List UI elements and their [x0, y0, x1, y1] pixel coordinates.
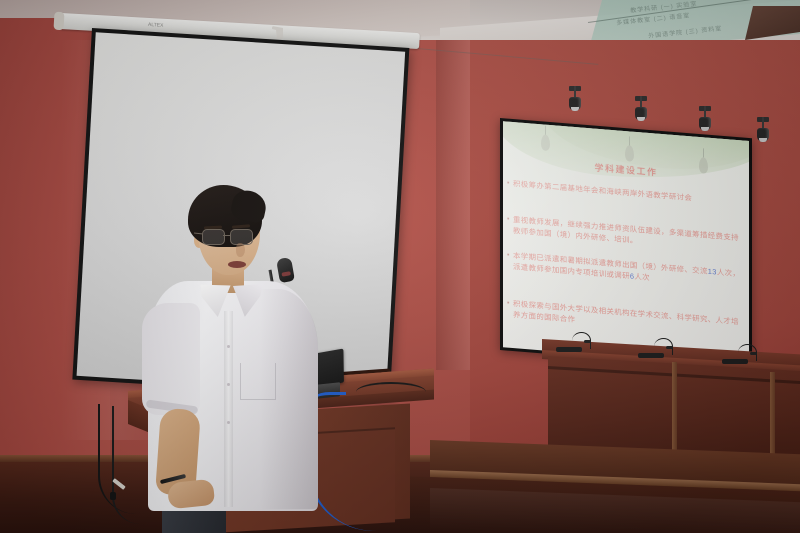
lecture-hall-photo: 教学科研 (一) 实验室 多媒体教室 (二) 语音室 外国语学院 (三) 资料室… [0, 0, 800, 533]
presentation-slide: 学科建设工作 ▪ 积极筹办第二届基地年会和海峡两岸外语教学研讨会 ▪ 重视教师发… [503, 121, 749, 367]
conference-table-leg-1 [672, 362, 677, 454]
bullet-marker-icon: ▪ [507, 179, 510, 190]
slide-lantern-1 [541, 134, 550, 151]
wall-corner [436, 40, 470, 370]
shirt-button-2 [227, 383, 230, 386]
ceiling-panel-line-3: 外国语学院 (三) 资料室 [648, 23, 723, 40]
ceiling-spotlight-2 [634, 96, 648, 122]
shirt-button-3 [227, 421, 230, 424]
projection-screen-slide: 学科建设工作 ▪ 积极筹办第二届基地年会和海峡两岸外语教学研讨会 ▪ 重视教师发… [500, 118, 752, 370]
bullet-marker-icon: ▪ [507, 299, 510, 310]
bullet-marker-icon: ▪ [507, 251, 510, 262]
speaker-sleeve-left [142, 303, 200, 415]
slide-bullet-3-post: 人次 [634, 272, 650, 282]
cable-plug [110, 492, 116, 500]
bullet-marker-icon: ▪ [507, 215, 510, 226]
gooseneck-microphone-3[interactable] [722, 342, 756, 364]
slide-bullet-3: ▪ 本学期已派遣和暑期拟派遣教师出国（境）外研修、交流13人次，派遣教师参加国内… [513, 250, 743, 291]
speaker-mouth [228, 261, 246, 268]
housing-brand-label: ALTEX [148, 22, 164, 29]
speaker-shirt-placket [224, 311, 233, 507]
conference-table-leg-2 [770, 372, 775, 464]
slide-bullet-1-text: 积极筹办第二届基地年会和海峡两岸外语教学研讨会 [513, 179, 692, 202]
glasses-icon [202, 229, 260, 244]
ceiling-spotlight-1 [568, 86, 582, 112]
ceiling-spotlight-4 [756, 117, 770, 143]
shirt-button-1 [227, 345, 230, 348]
speaker-hand [167, 479, 215, 510]
slide-bullet-2-text: 重视教师发展，继续强力推进师资队伍建设，多渠道筹措经费支持教师参加国（境）内外研… [513, 215, 739, 245]
slide-bullet-4: ▪ 积极探索与国外大学以及相关机构在学术交流、科学研究、人才培养方面的国际合作 [513, 298, 743, 339]
glasses-bridge [223, 235, 231, 236]
speaker-shirt-pocket [240, 363, 276, 400]
glasses-lens-left [202, 229, 225, 245]
gooseneck-microphone-1[interactable] [556, 330, 590, 352]
black-cable-3 [356, 382, 426, 402]
slide-lantern-2 [625, 145, 634, 162]
black-cable-2 [112, 406, 140, 524]
slide-bullet-4-text: 积极探索与国外大学以及相关机构在学术交流、科学研究、人才培养方面的国际合作 [513, 299, 739, 326]
speaker-person [140, 185, 340, 533]
slide-bullet-2: ▪ 重视教师发展，继续强力推进师资队伍建设，多渠道筹措经费支持教师参加国（境）内… [513, 214, 743, 255]
housing-end-cap [54, 12, 65, 31]
ceiling-spotlight-3 [698, 106, 712, 132]
gooseneck-microphone-2[interactable] [638, 336, 672, 358]
slide-bullet-3-number-1: 13 [708, 267, 717, 277]
